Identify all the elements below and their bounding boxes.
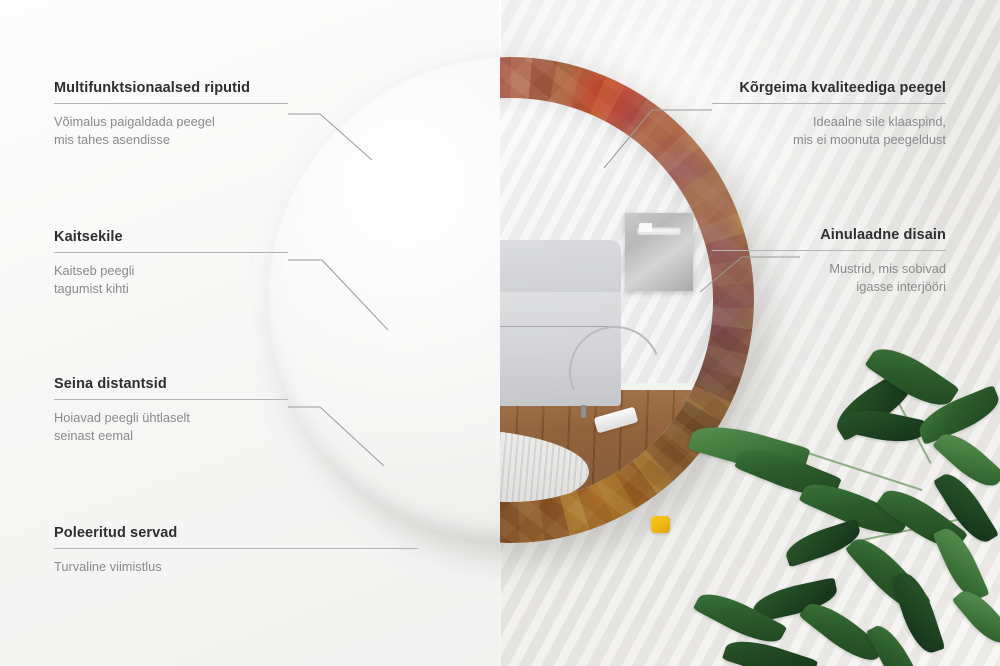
callout-title: Ainulaadne disain bbox=[712, 227, 946, 243]
callout-rule bbox=[712, 250, 946, 251]
callout-title: Kõrgeima kvaliteediga peegel bbox=[712, 80, 946, 96]
callout-title: Multifunktsionaalsed riputid bbox=[54, 80, 288, 96]
callout-body: Ideaalne sile klaaspind, mis ei moonuta … bbox=[712, 113, 946, 149]
callout-body: Kaitseb peegli tagumist kihti bbox=[54, 262, 288, 298]
callout-rule bbox=[54, 548, 418, 549]
hanger-plate bbox=[625, 213, 693, 291]
callout-rule bbox=[54, 399, 288, 400]
wall-spacer bbox=[651, 516, 670, 533]
callout-title: Poleeritud servad bbox=[54, 525, 418, 541]
infographic-stage: Multifunktsionaalsed riputid Võimalus pa… bbox=[0, 0, 1000, 666]
callout-seina-distantsid: Seina distantsid Hoiavad peegli ühtlasel… bbox=[54, 376, 288, 445]
callout-body: Võimalus paigaldada peegel mis tahes ase… bbox=[54, 113, 288, 149]
callout-body: Mustrid, mis sobivad igasse interjööri bbox=[712, 260, 946, 296]
foreground-plant bbox=[680, 354, 1000, 666]
callout-multifunktsionaalsed-riputid: Multifunktsionaalsed riputid Võimalus pa… bbox=[54, 80, 288, 149]
hanger-notch bbox=[639, 223, 652, 232]
callout-korgeima-kvaliteediga-peegel: Kõrgeima kvaliteediga peegel Ideaalne si… bbox=[712, 80, 946, 149]
callout-rule bbox=[54, 103, 288, 104]
callout-title: Seina distantsid bbox=[54, 376, 288, 392]
callout-rule bbox=[712, 103, 946, 104]
callout-title: Kaitsekile bbox=[54, 229, 288, 245]
callout-ainulaadne-disain: Ainulaadne disain Mustrid, mis sobivad i… bbox=[712, 227, 946, 296]
callout-body: Turvaline viimistlus bbox=[54, 558, 418, 576]
callout-kaitsekile: Kaitsekile Kaitseb peegli tagumist kihti bbox=[54, 229, 288, 298]
callout-body: Hoiavad peegli ühtlaselt seinast eemal bbox=[54, 409, 288, 445]
callout-rule bbox=[54, 252, 288, 253]
callout-poleeritud-servad: Poleeritud servad Turvaline viimistlus bbox=[54, 525, 418, 576]
